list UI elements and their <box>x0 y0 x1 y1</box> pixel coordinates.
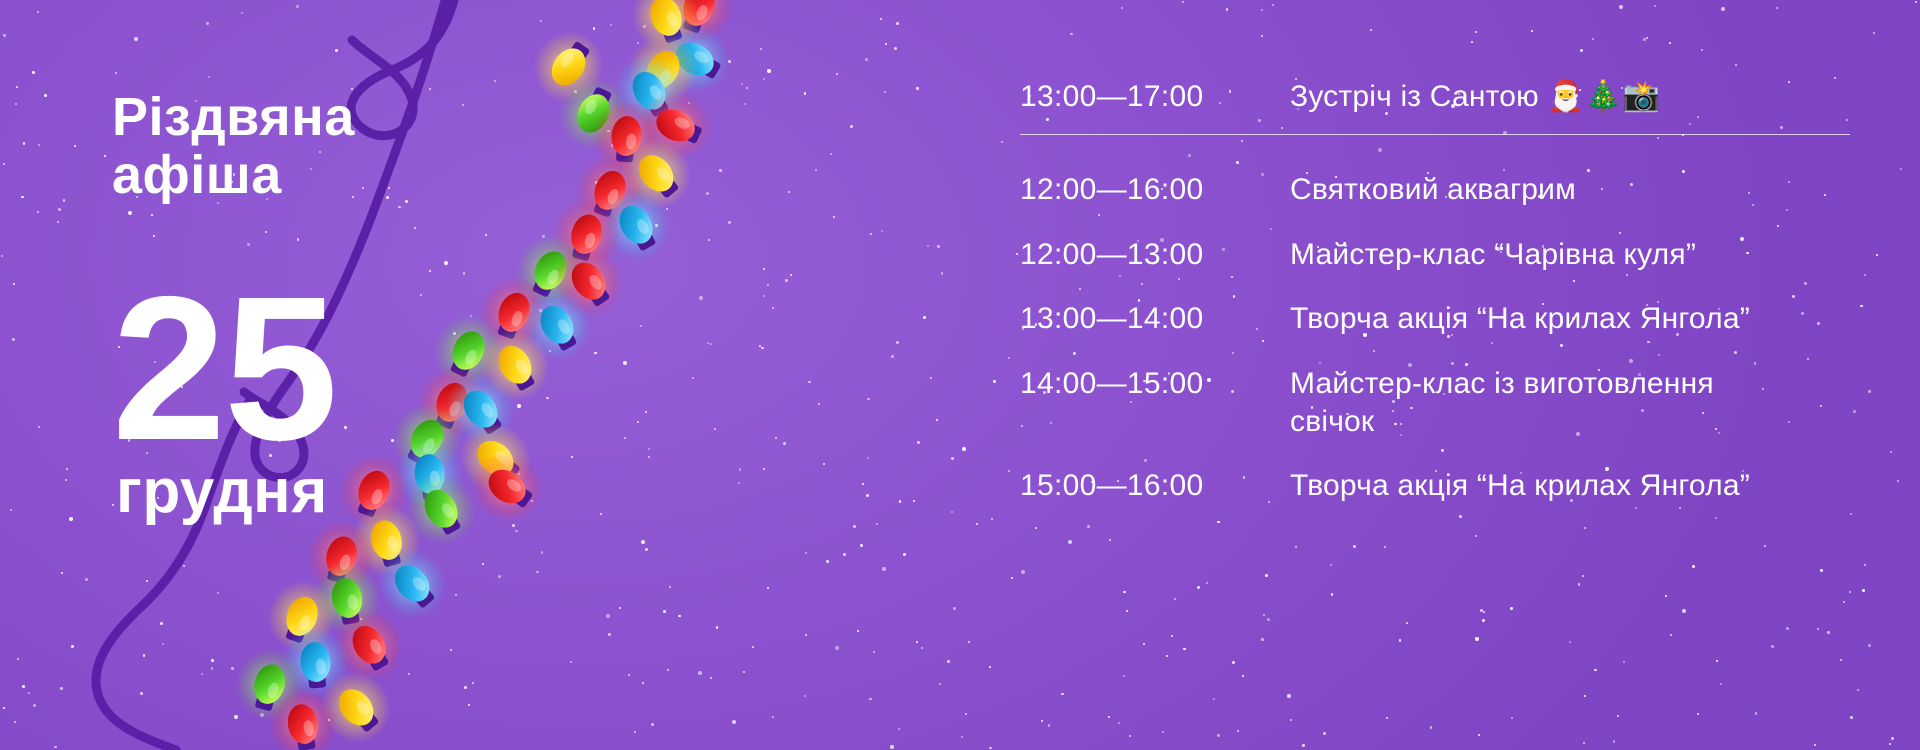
schedule-time: 13:00—14:00 <box>1020 300 1290 338</box>
schedule-time: 15:00—16:00 <box>1020 467 1290 505</box>
schedule-row: 14:00—15:00 Майстер-клас із виготовлення… <box>1020 365 1850 442</box>
christmas-poster: Різдвяна афіша 25 грудня 13:00—17:00 Зус… <box>0 0 1920 750</box>
date-month: грудня <box>116 461 582 523</box>
schedule-time: 13:00—17:00 <box>1020 78 1290 116</box>
schedule-divider <box>1020 134 1850 135</box>
schedule-time: 12:00—16:00 <box>1020 171 1290 209</box>
date-block: 25 грудня <box>112 285 582 523</box>
schedule-title: Святковий аквагрим <box>1290 171 1780 209</box>
schedule-time: 14:00—15:00 <box>1020 365 1290 403</box>
schedule-time: 12:00—13:00 <box>1020 236 1290 274</box>
schedule-title: Зустріч із Сантою 🎅🎄📸 <box>1290 78 1780 116</box>
schedule-row: 13:00—14:00 Творча акція “На крилах Янго… <box>1020 300 1850 338</box>
schedule-title: Майстер-клас із виготовлення свічок <box>1290 365 1780 442</box>
page-title: Різдвяна афіша <box>112 88 582 205</box>
schedule-title: Творча акція “На крилах Янгола” <box>1290 300 1780 338</box>
schedule-row: 13:00—17:00 Зустріч із Сантою 🎅🎄📸 <box>1020 78 1850 116</box>
schedule-row: 15:00—16:00 Творча акція “На крилах Янго… <box>1020 467 1850 505</box>
schedule-title: Майстер-клас “Чарівна куля” <box>1290 236 1780 274</box>
event-schedule: 13:00—17:00 Зустріч із Сантою 🎅🎄📸 12:00—… <box>1020 78 1850 532</box>
schedule-row: 12:00—13:00 Майстер-клас “Чарівна куля” <box>1020 236 1850 274</box>
poster-headline-block: Різдвяна афіша 25 грудня <box>112 88 582 523</box>
schedule-title: Творча акція “На крилах Янгола” <box>1290 467 1780 505</box>
schedule-row: 12:00—16:00 Святковий аквагрим <box>1020 171 1850 209</box>
date-number: 25 <box>112 285 582 453</box>
